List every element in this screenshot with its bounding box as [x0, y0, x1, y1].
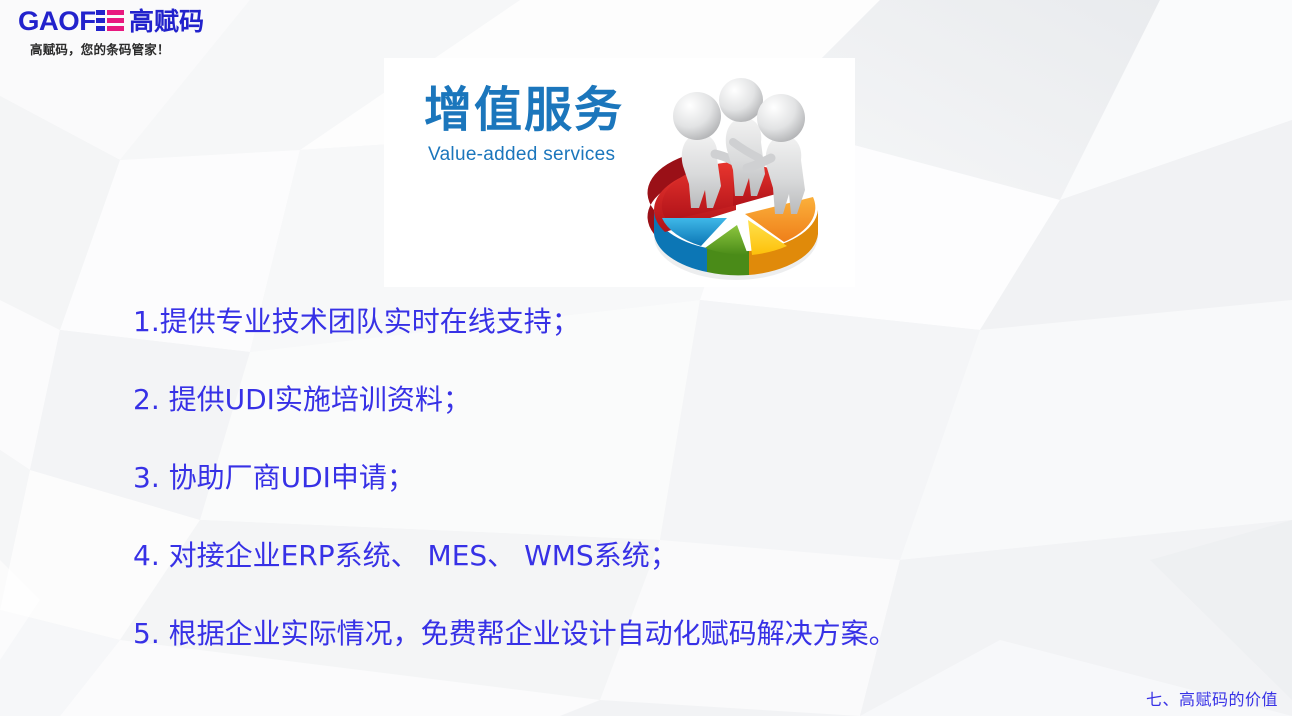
service-bullet-list: 1.提供专业技术团队实时在线支持； 2. 提供UDI实施培训资料； 3. 协助厂… [133, 300, 1133, 690]
barcode-bars-icon [96, 10, 124, 31]
logo-latin-wordmark: GAOF [18, 7, 96, 35]
logo-chinese-wordmark: 高赋码 [129, 8, 204, 35]
list-item: 3. 协助厂商UDI申请； [133, 456, 1133, 534]
list-item: 4. 对接企业ERP系统、 MES、 WMS系统； [133, 534, 1133, 612]
list-item: 2. 提供UDI实施培训资料； [133, 378, 1133, 456]
slide-canvas: GAOF 高赋码 高赋码，您的条码管家！ 增值服务 Value-added se… [0, 0, 1292, 716]
list-item: 5. 根据企业实际情况，免费帮企业设计自动化赋码解决方案。 [133, 612, 1133, 690]
list-item: 1.提供专业技术团队实时在线支持； [133, 300, 1133, 378]
brand-logo[interactable]: GAOF 高赋码 高赋码，您的条码管家！ [18, 6, 268, 56]
section-footer-label: 七、高赋码的价值 [1146, 686, 1278, 710]
banner-title-english: Value-added services [428, 144, 615, 166]
3d-people-pie-chart-illustration [621, 58, 851, 287]
banner-title-chinese: 增值服务 [424, 82, 624, 138]
logo-wordmark-row: GAOF 高赋码 [18, 6, 268, 36]
value-added-services-banner: 增值服务 Value-added services [384, 58, 855, 287]
logo-tagline: 高赋码，您的条码管家！ [30, 39, 268, 58]
